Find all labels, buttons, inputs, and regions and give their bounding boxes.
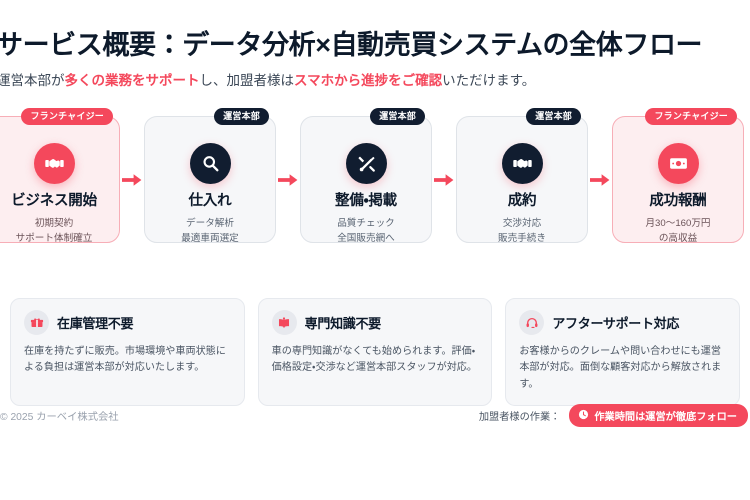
- follow-up-badge-text: 作業時間は運営が徹底フォロー: [594, 408, 737, 423]
- flow-step-description-line-2: 全国販売網へ: [307, 232, 425, 246]
- flow-step-badge: フランチャイジー: [645, 108, 737, 125]
- benefit-card-title: 専門知識不要: [305, 313, 381, 332]
- handshake-icon: [34, 143, 75, 184]
- money-icon: [658, 143, 699, 184]
- copyright-text: © 2025 カーベイ株式会社: [0, 408, 119, 423]
- flow-step-badge: フランチャイジー: [21, 108, 113, 125]
- benefit-card-title: 在庫管理不要: [57, 313, 133, 332]
- flow-step-description: 月30〜160万円の高収益: [619, 217, 737, 246]
- flow-step-description: 交渉対応販売手続き: [463, 217, 581, 246]
- flow-step-description: 初期契約サポート体制確立: [0, 217, 113, 246]
- arrow-right-icon: [276, 116, 300, 243]
- benefit-card-header: アフターサポート対応: [519, 310, 726, 335]
- service-overview-slide: サービス概要：データ分析×自動売買システムの全体フロー 運営本部が多くの業務をサ…: [0, 0, 750, 500]
- flow-step-5[interactable]: フランチャイジー成功報酬月30〜160万円の高収益: [612, 116, 744, 243]
- subtitle-segment-2: し、加盟者様は: [200, 73, 295, 88]
- benefit-card-2[interactable]: 専門知識不要車の専門知識がなくても始められます。評価・価格設定・交渉など運営本部…: [258, 298, 493, 406]
- flow-step-description-line-1: 月30〜160万円: [619, 217, 737, 231]
- benefit-card-header: 専門知識不要: [272, 310, 479, 335]
- page-subtitle: 運営本部が多くの業務をサポートし、加盟者様はスマホから進捗をご確認いただけます。: [0, 72, 750, 90]
- subtitle-segment-0: 運営本部が: [0, 73, 65, 88]
- footer-note: 加盟者様の作業： 作業時間は運営が徹底フォロー: [479, 404, 748, 427]
- flow-step-title: ビジネス開始: [0, 193, 113, 210]
- footer: © 2025 カーベイ株式会社 加盟者様の作業： 作業時間は運営が徹底フォロー: [0, 404, 750, 427]
- subtitle-segment-4: いただけます。: [442, 73, 535, 88]
- benefit-card-body: 在庫を持たずに販売。市場環境や車両状態による負担は運営本部が対応いたします。: [24, 344, 231, 377]
- benefit-card-list: 在庫管理不要在庫を持たずに販売。市場環境や車両状態による負担は運営本部が対応いた…: [10, 298, 740, 406]
- flow-step-title: 仕入れ: [151, 193, 269, 210]
- flow-step-badge: 運営本部: [526, 108, 581, 125]
- flow-step-description: 品質チェック全国販売網へ: [307, 217, 425, 246]
- arrow-right-icon: [588, 116, 612, 243]
- arrow-right-icon: [120, 116, 144, 243]
- flow-step-badge: 運営本部: [214, 108, 269, 125]
- flow-diagram: フランチャイジービジネス開始初期契約サポート体制確立運営本部仕入れデータ解析最適…: [0, 116, 750, 243]
- benefit-card-1[interactable]: 在庫管理不要在庫を持たずに販売。市場環境や車両状態による負担は運営本部が対応いた…: [10, 298, 245, 406]
- flow-step-description-line-1: 交渉対応: [463, 217, 581, 231]
- header: サービス概要：データ分析×自動売買システムの全体フロー 運営本部が多くの業務をサ…: [0, 0, 750, 90]
- clock-icon: [578, 409, 589, 423]
- benefit-card-title: アフターサポート対応: [552, 313, 679, 332]
- flow-step-1[interactable]: フランチャイジービジネス開始初期契約サポート体制確立: [0, 116, 120, 243]
- subtitle-segment-3: スマホから進捗をご確認: [294, 73, 442, 88]
- follow-up-badge: 作業時間は運営が徹底フォロー: [569, 404, 748, 427]
- arrow-right-icon: [432, 116, 456, 243]
- flow-step-description: データ解析最適車両選定: [151, 217, 269, 246]
- subtitle-segment-1: 多くの業務をサポート: [65, 73, 200, 88]
- tools-icon: [346, 143, 387, 184]
- flow-step-description-line-2: 最適車両選定: [151, 232, 269, 246]
- benefit-card-body: お客様からのクレームや問い合わせにも運営本部が対応。面倒な顧客対応から解放されま…: [519, 344, 726, 393]
- flow-step-badge: 運営本部: [370, 108, 425, 125]
- flow-step-2[interactable]: 運営本部仕入れデータ解析最適車両選定: [144, 116, 276, 243]
- page-title: サービス概要：データ分析×自動売買システムの全体フロー: [0, 30, 750, 61]
- inventory-box-icon: [24, 310, 49, 335]
- flow-step-title: 成約: [463, 193, 581, 210]
- flow-step-description-line-2: サポート体制確立: [0, 232, 113, 246]
- benefit-card-body: 車の専門知識がなくても始められます。評価・価格設定・交渉など運営本部スタッフが対…: [272, 344, 479, 377]
- flow-step-description-line-1: 初期契約: [0, 217, 113, 231]
- magnifier-icon: [190, 143, 231, 184]
- footer-label: 加盟者様の作業：: [479, 408, 561, 423]
- flow-step-title: 成功報酬: [619, 193, 737, 210]
- flow-step-description-line-2: の高収益: [619, 232, 737, 246]
- headset-icon: [519, 310, 544, 335]
- flow-step-description-line-1: 品質チェック: [307, 217, 425, 231]
- flow-step-description-line-2: 販売手続き: [463, 232, 581, 246]
- handshake-icon: [502, 143, 543, 184]
- open-book-icon: [272, 310, 297, 335]
- flow-step-4[interactable]: 運営本部成約交渉対応販売手続き: [456, 116, 588, 243]
- benefit-card-header: 在庫管理不要: [24, 310, 231, 335]
- benefit-card-3[interactable]: アフターサポート対応お客様からのクレームや問い合わせにも運営本部が対応。面倒な顧…: [505, 298, 740, 406]
- flow-step-description-line-1: データ解析: [151, 217, 269, 231]
- flow-step-3[interactable]: 運営本部整備・掲載品質チェック全国販売網へ: [300, 116, 432, 243]
- flow-step-title: 整備・掲載: [307, 193, 425, 210]
